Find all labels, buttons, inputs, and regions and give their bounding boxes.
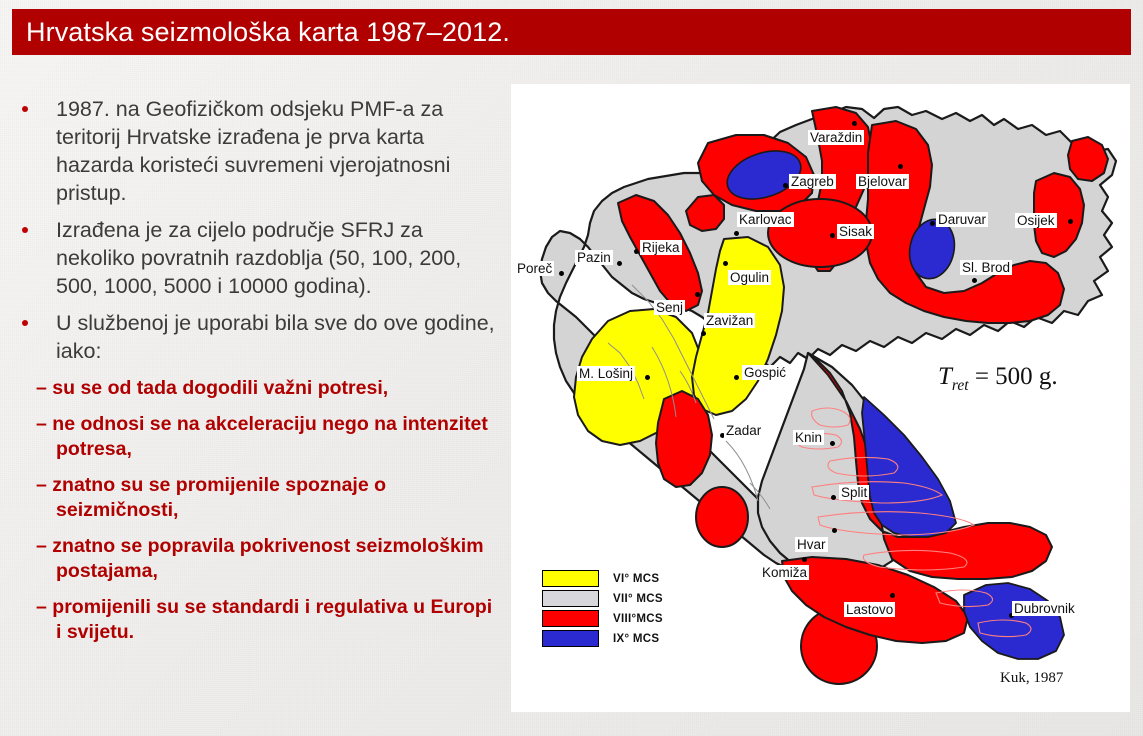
legend-label-viii: VIII°MCS — [613, 613, 663, 625]
legend-swatch-viii — [542, 610, 599, 627]
city-label: Rijeka — [640, 240, 682, 255]
city-label: Ogulin — [728, 270, 771, 285]
tret-subscript: ret — [952, 377, 969, 394]
legend-swatch-vii — [542, 590, 599, 607]
city-label: Sisak — [837, 224, 874, 239]
bullet-dot-icon — [22, 106, 28, 112]
legend-item: VIII°MCS — [542, 609, 663, 628]
sub-bullet-item: – promijenili su se standardi i regulati… — [14, 595, 498, 645]
map-panel: VaraždinZagrebBjelovarKarlovacSisakDaruv… — [512, 85, 1129, 711]
city-label: Zadar — [724, 423, 763, 438]
city-marker-dot — [1068, 219, 1073, 224]
city-label: Lastovo — [844, 602, 895, 617]
sub-bullet-text: ne odnosi se na akceleraciju nego na int… — [52, 413, 488, 460]
sub-bullet-item: – znatno su se promijenile spoznaje o se… — [14, 473, 498, 523]
city-marker-dot — [832, 528, 837, 533]
legend-item: VI° MCS — [542, 569, 663, 588]
map-legend: VI° MCS VII° MCS VIII°MCS IX° MCS — [542, 569, 663, 649]
bullet-item: Izrađena je za cijelo područje SFRJ za n… — [14, 217, 498, 301]
sub-bullet-text: znatno se popravila pokrivenost seizmolo… — [52, 535, 483, 582]
city-label: Pazin — [575, 250, 613, 265]
seismic-hazard-map: VaraždinZagrebBjelovarKarlovacSisakDaruv… — [512, 85, 1129, 711]
title-banner: Hrvatska seizmološka karta 1987–2012. — [12, 9, 1131, 55]
bullet-text: U službenoj je uporabi bila sve do ove g… — [56, 311, 495, 363]
city-label: Split — [839, 485, 869, 500]
city-label: Bjelovar — [856, 174, 909, 189]
city-label: Hvar — [795, 537, 828, 552]
legend-item: IX° MCS — [542, 629, 663, 648]
city-marker-dot — [972, 278, 977, 283]
legend-label-vii: VII° MCS — [613, 593, 663, 605]
return-period-annotation: Tret = 500 g. — [938, 363, 1058, 395]
sub-bullet-text: promijenili su se standardi i regulativa… — [52, 596, 492, 643]
map-credit: Kuk, 1987 — [1000, 670, 1063, 687]
city-marker-dot — [852, 121, 857, 126]
city-label: Sl. Brod — [960, 260, 1012, 275]
city-marker-dot — [890, 593, 895, 598]
city-marker-dot — [930, 221, 935, 226]
sub-bullet-item: – ne odnosi se na akceleraciju nego na i… — [14, 412, 498, 462]
city-marker-dot — [701, 331, 706, 336]
zone-viii-island — [696, 487, 748, 547]
city-marker-dot — [559, 271, 564, 276]
city-marker-dot — [830, 233, 835, 238]
sub-bullet-dash-icon: – — [36, 413, 47, 435]
bullet-text: Izrađena je za cijelo područje SFRJ za n… — [56, 218, 461, 298]
city-marker-dot — [645, 375, 650, 380]
city-marker-dot — [734, 231, 739, 236]
city-label: Zavižan — [704, 313, 755, 328]
city-label: Komiža — [760, 565, 809, 580]
city-marker-dot — [783, 183, 788, 188]
city-marker-dot — [695, 292, 700, 297]
city-label: Senj — [654, 300, 685, 315]
city-marker-dot — [723, 261, 728, 266]
legend-swatch-ix — [542, 630, 599, 647]
page-title: Hrvatska seizmološka karta 1987–2012. — [12, 17, 510, 48]
city-marker-dot — [802, 557, 807, 562]
bullet-text: 1987. na Geofizičkom odsjeku PMF-a za te… — [56, 97, 450, 205]
city-label: Gospić — [742, 365, 788, 380]
city-marker-dot — [898, 164, 903, 169]
city-label: Poreč — [515, 261, 554, 276]
tret-value: = 500 g. — [975, 363, 1058, 390]
city-label: Osijek — [1015, 213, 1057, 228]
legend-label-ix: IX° MCS — [613, 633, 659, 645]
sub-bullet-dash-icon: – — [36, 596, 47, 618]
sub-bullet-text: su se od tada dogodili važni potresi, — [52, 377, 388, 399]
bullet-dot-icon — [22, 227, 28, 233]
legend-label-vi: VI° MCS — [613, 573, 659, 585]
city-marker-dot — [617, 261, 622, 266]
city-label: Daruvar — [936, 212, 988, 227]
legend-swatch-vi — [542, 570, 599, 587]
city-label: Karlovac — [737, 212, 794, 227]
sub-bullet-dash-icon: – — [36, 535, 47, 557]
city-label: M. Lošinj — [577, 366, 635, 381]
sub-bullet-dash-icon: – — [36, 377, 47, 399]
legend-item: VII° MCS — [542, 589, 663, 608]
tret-symbol: T — [938, 363, 952, 390]
bullet-item: 1987. na Geofizičkom odsjeku PMF-a za te… — [14, 96, 498, 208]
city-label: Dubrovnik — [1012, 601, 1077, 616]
sub-bullet-text: znatno su se promijenile spoznaje o seiz… — [52, 474, 386, 521]
city-marker-dot — [734, 375, 739, 380]
city-marker-dot — [830, 441, 835, 446]
slide-canvas: Hrvatska seizmološka karta 1987–2012. 19… — [0, 0, 1143, 736]
zone-viii-baranja-tip — [1068, 137, 1108, 181]
city-marker-dot — [831, 495, 836, 500]
city-marker-dot — [634, 249, 639, 254]
bullet-dot-icon — [22, 320, 28, 326]
city-label: Zagreb — [789, 174, 836, 189]
bullet-item: U službenoj je uporabi bila sve do ove g… — [14, 310, 498, 366]
city-label: Varaždin — [808, 130, 864, 145]
bullet-list: 1987. na Geofizičkom odsjeku PMF-a za te… — [14, 96, 498, 645]
sub-bullet-item: – su se od tada dogodili važni potresi, — [14, 376, 498, 401]
sub-bullet-dash-icon: – — [36, 474, 47, 496]
city-label: Knin — [793, 430, 824, 445]
sub-bullet-item: – znatno se popravila pokrivenost seizmo… — [14, 534, 498, 584]
